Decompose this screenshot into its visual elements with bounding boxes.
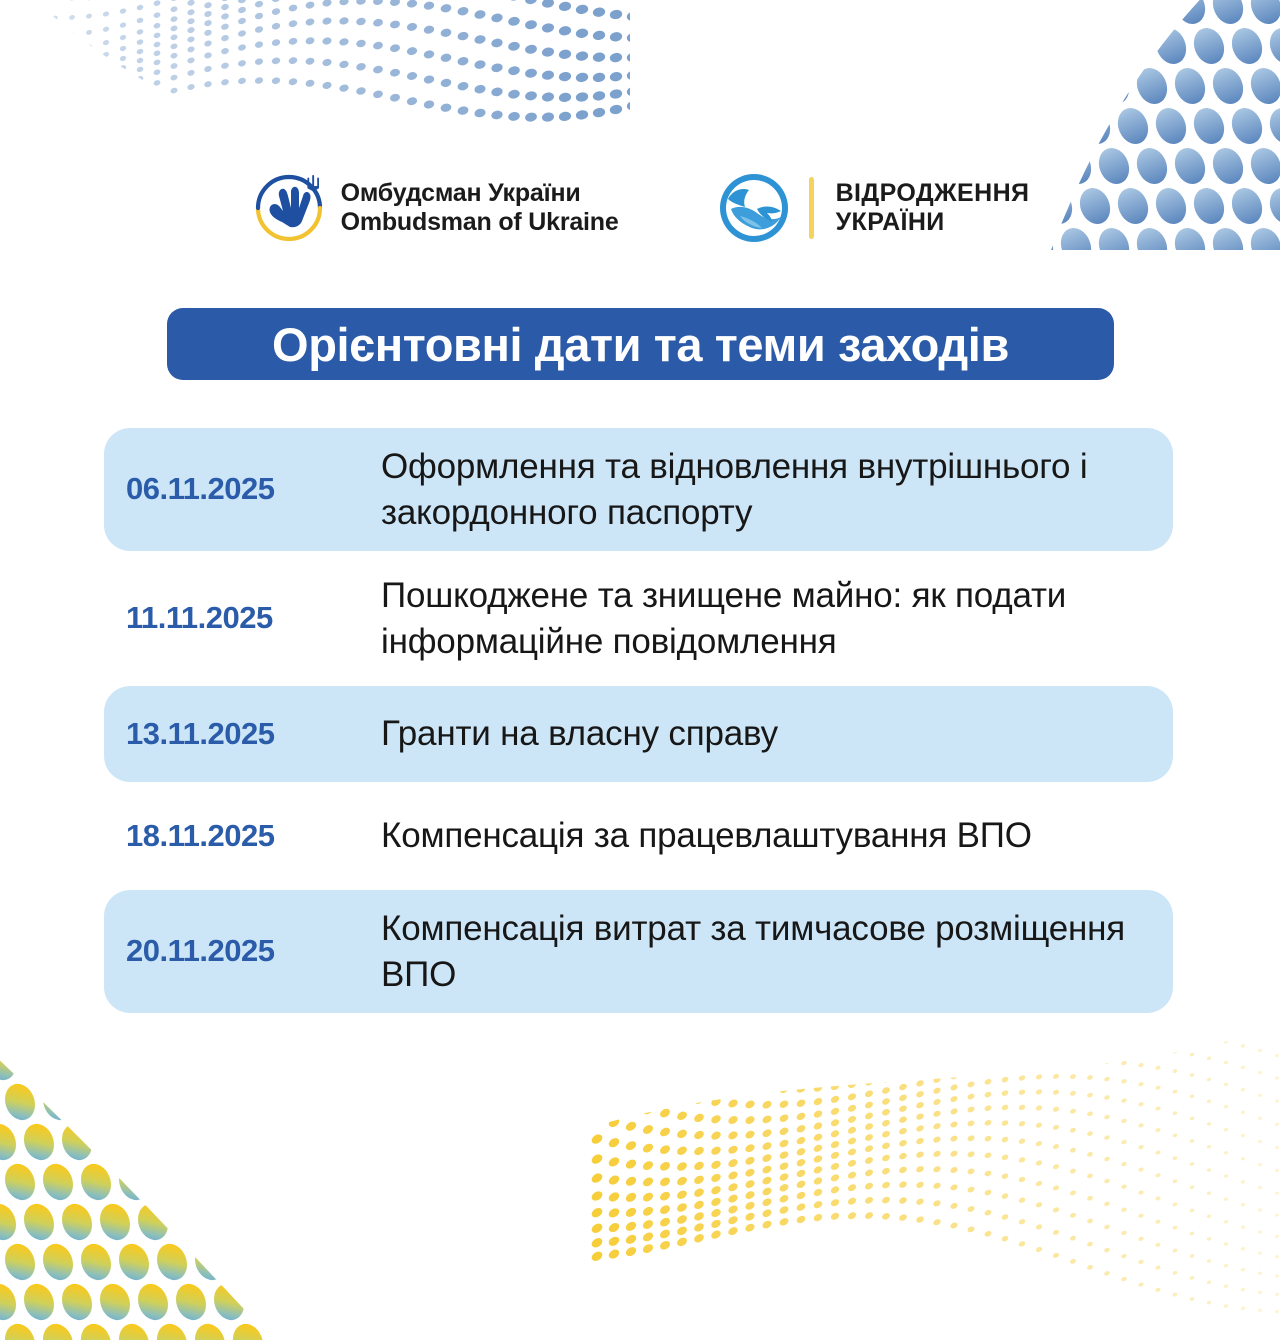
phoenix-circle-emblem <box>715 169 793 247</box>
vidrodzhennia-logo: ВІДРОДЖЕННЯ УКРАЇНИ <box>715 169 1030 247</box>
schedule-row-topic: Компенсація витрат за тимчасове розміщен… <box>381 906 1155 997</box>
schedule-row-topic: Компенсація за працевлаштування ВПО <box>381 813 1155 859</box>
schedule-row-date: 20.11.2025 <box>126 934 381 968</box>
schedule-row: 13.11.2025Гранти на власну справу <box>104 686 1173 782</box>
vidrodzhennia-logo-line-1: ВІДРОДЖЕННЯ <box>836 179 1030 209</box>
decor-bottom-right-yellow-dot-wave <box>590 990 1280 1320</box>
page-title: Орієнтовні дати та теми заходів <box>272 321 1009 368</box>
ombudsman-logo: Омбудсман України Ombudsman of Ukraine <box>251 170 619 246</box>
schedule-row-date: 11.11.2025 <box>126 601 381 635</box>
vidrodzhennia-logo-text: ВІДРОДЖЕННЯ УКРАЇНИ <box>836 179 1030 238</box>
ombudsman-logo-line-en: Ombudsman of Ukraine <box>341 208 619 237</box>
schedule-row-date: 18.11.2025 <box>126 819 381 853</box>
schedule-row-date: 13.11.2025 <box>126 717 381 751</box>
schedule-row: 11.11.2025Пошкоджене та знищене майно: я… <box>104 557 1173 680</box>
page-title-banner: Орієнтовні дати та теми заходів <box>167 308 1114 380</box>
decor-bottom-left-yellow-blue-ellipse-grid <box>0 1010 270 1340</box>
yellow-divider <box>809 177 814 239</box>
logo-bar: Омбудсман України Ombudsman of Ukraine В… <box>0 160 1280 256</box>
vidrodzhennia-logo-line-2: УКРАЇНИ <box>836 208 1030 238</box>
schedule-row: 18.11.2025Компенсація за працевлаштуванн… <box>104 788 1173 884</box>
schedule-list: 06.11.2025Оформлення та відновлення внут… <box>104 428 1173 1019</box>
ombudsman-logo-line-ua: Омбудсман України <box>341 179 619 208</box>
schedule-row-topic: Гранти на власну справу <box>381 711 1155 757</box>
schedule-row-date: 06.11.2025 <box>126 472 381 506</box>
schedule-row-topic: Пошкоджене та знищене майно: як подати і… <box>381 573 1155 664</box>
ombudsman-logo-text: Омбудсман України Ombudsman of Ukraine <box>341 179 619 237</box>
schedule-row: 20.11.2025Компенсація витрат за тимчасов… <box>104 890 1173 1013</box>
schedule-row-topic: Оформлення та відновлення внутрішнього і… <box>381 444 1155 535</box>
ombudsman-hand-dove-emblem <box>251 170 327 246</box>
schedule-row: 06.11.2025Оформлення та відновлення внут… <box>104 428 1173 551</box>
